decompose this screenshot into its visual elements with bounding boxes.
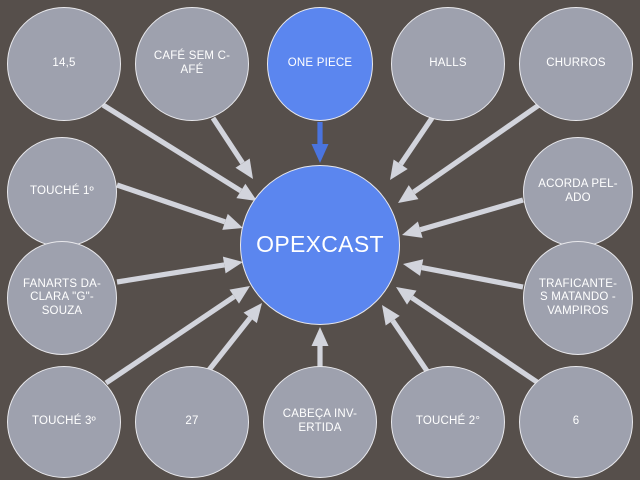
node-label: TOUCHÉ 1º xyxy=(16,185,109,199)
node-label: CHURROS xyxy=(528,57,624,71)
node-n-halls[interactable]: HALLS xyxy=(391,7,505,121)
edge-arrowhead xyxy=(235,158,253,179)
edge-shaft xyxy=(103,105,241,191)
edge-n-touche-1-to-opexcast xyxy=(117,185,243,230)
edge-n-fanarts-to-opexcast xyxy=(117,257,243,282)
edge-arrowhead xyxy=(398,185,418,203)
edge-arrowhead xyxy=(396,287,417,305)
node-n-touche-1[interactable]: TOUCHÉ 1º xyxy=(7,137,117,247)
edge-arrowhead xyxy=(312,327,329,346)
node-n-traficantes[interactable]: TRAFICANTE- S MATANDO - VAMPIROS xyxy=(523,241,633,355)
edge-n-cafe-to-opexcast xyxy=(213,118,253,179)
edge-arrowhead xyxy=(312,144,329,163)
edge-n-cabeca-to-opexcast xyxy=(312,327,329,367)
edge-arrowhead xyxy=(244,303,262,323)
node-label: ACORDA PEL- ADO xyxy=(532,178,625,205)
node-label: 14,5 xyxy=(16,57,112,71)
edge-n-touche-2-to-opexcast xyxy=(382,305,427,371)
edge-n-halls-to-opexcast xyxy=(390,118,432,180)
edge-arrowhead xyxy=(382,305,400,325)
node-n-6[interactable]: 6 xyxy=(519,366,633,478)
center-node-label: OPEXCAST xyxy=(246,231,395,258)
edge-shaft xyxy=(422,268,523,287)
diagram-canvas: 14,5CAFÉ SEM C- AFÉONE PIECEHALLSCHURROS… xyxy=(0,0,640,480)
node-label: FANARTS DA- CLARA "G"- SOUZA xyxy=(16,278,109,319)
node-label: 27 xyxy=(144,415,240,429)
node-n-14-5[interactable]: 14,5 xyxy=(7,7,121,121)
edge-shaft xyxy=(213,118,243,163)
node-n-cabeca[interactable]: CABEÇA INV- ERTIDA xyxy=(263,366,377,478)
edge-shaft xyxy=(117,185,225,222)
edge-n-6-to-opexcast xyxy=(396,287,537,382)
edge-shaft xyxy=(420,200,523,230)
node-label: HALLS xyxy=(400,57,496,71)
node-n-touche-3[interactable]: TOUCHÉ 3º xyxy=(7,366,121,478)
edge-n-acorda-to-opexcast xyxy=(402,200,523,238)
node-label: TOUCHÉ 3º xyxy=(16,415,112,429)
edge-n-traficantes-to-opexcast xyxy=(403,259,523,287)
edge-arrowhead xyxy=(390,160,408,180)
node-n-churros[interactable]: CHURROS xyxy=(519,7,633,121)
node-label: CAFÉ SEM C- AFÉ xyxy=(144,50,240,77)
node-n-fanarts[interactable]: FANARTS DA- CLARA "G"- SOUZA xyxy=(7,241,117,355)
edge-shaft xyxy=(401,118,432,164)
edge-shaft xyxy=(393,321,427,371)
node-label: 6 xyxy=(528,415,624,429)
node-n-27[interactable]: 27 xyxy=(135,366,249,478)
node-n-touche-2[interactable]: TOUCHÉ 2° xyxy=(391,366,505,478)
edge-n-27-to-opexcast xyxy=(209,303,262,370)
node-label: TOUCHÉ 2° xyxy=(400,415,496,429)
node-label: TRAFICANTE- S MATANDO - VAMPIROS xyxy=(532,278,625,319)
node-label: CABEÇA INV- ERTIDA xyxy=(272,408,368,435)
edge-shaft xyxy=(117,265,224,282)
edge-arrowhead xyxy=(402,222,423,238)
edge-arrowhead xyxy=(229,286,250,304)
node-label: ONE PIECE xyxy=(275,57,364,71)
node-n-acorda[interactable]: ACORDA PEL- ADO xyxy=(523,137,633,247)
edge-shaft xyxy=(209,318,250,370)
edge-arrowhead xyxy=(403,259,423,276)
node-n-cafe[interactable]: CAFÉ SEM C- AFÉ xyxy=(135,7,249,121)
edge-arrowhead xyxy=(222,214,243,230)
node-n-one-piece[interactable]: ONE PIECE xyxy=(267,7,373,121)
edge-n-one-piece-to-opexcast xyxy=(312,122,329,163)
edge-arrowhead xyxy=(223,257,243,274)
edge-n-churros-to-opexcast xyxy=(398,105,539,203)
center-node-opexcast[interactable]: OPEXCAST xyxy=(240,165,400,325)
